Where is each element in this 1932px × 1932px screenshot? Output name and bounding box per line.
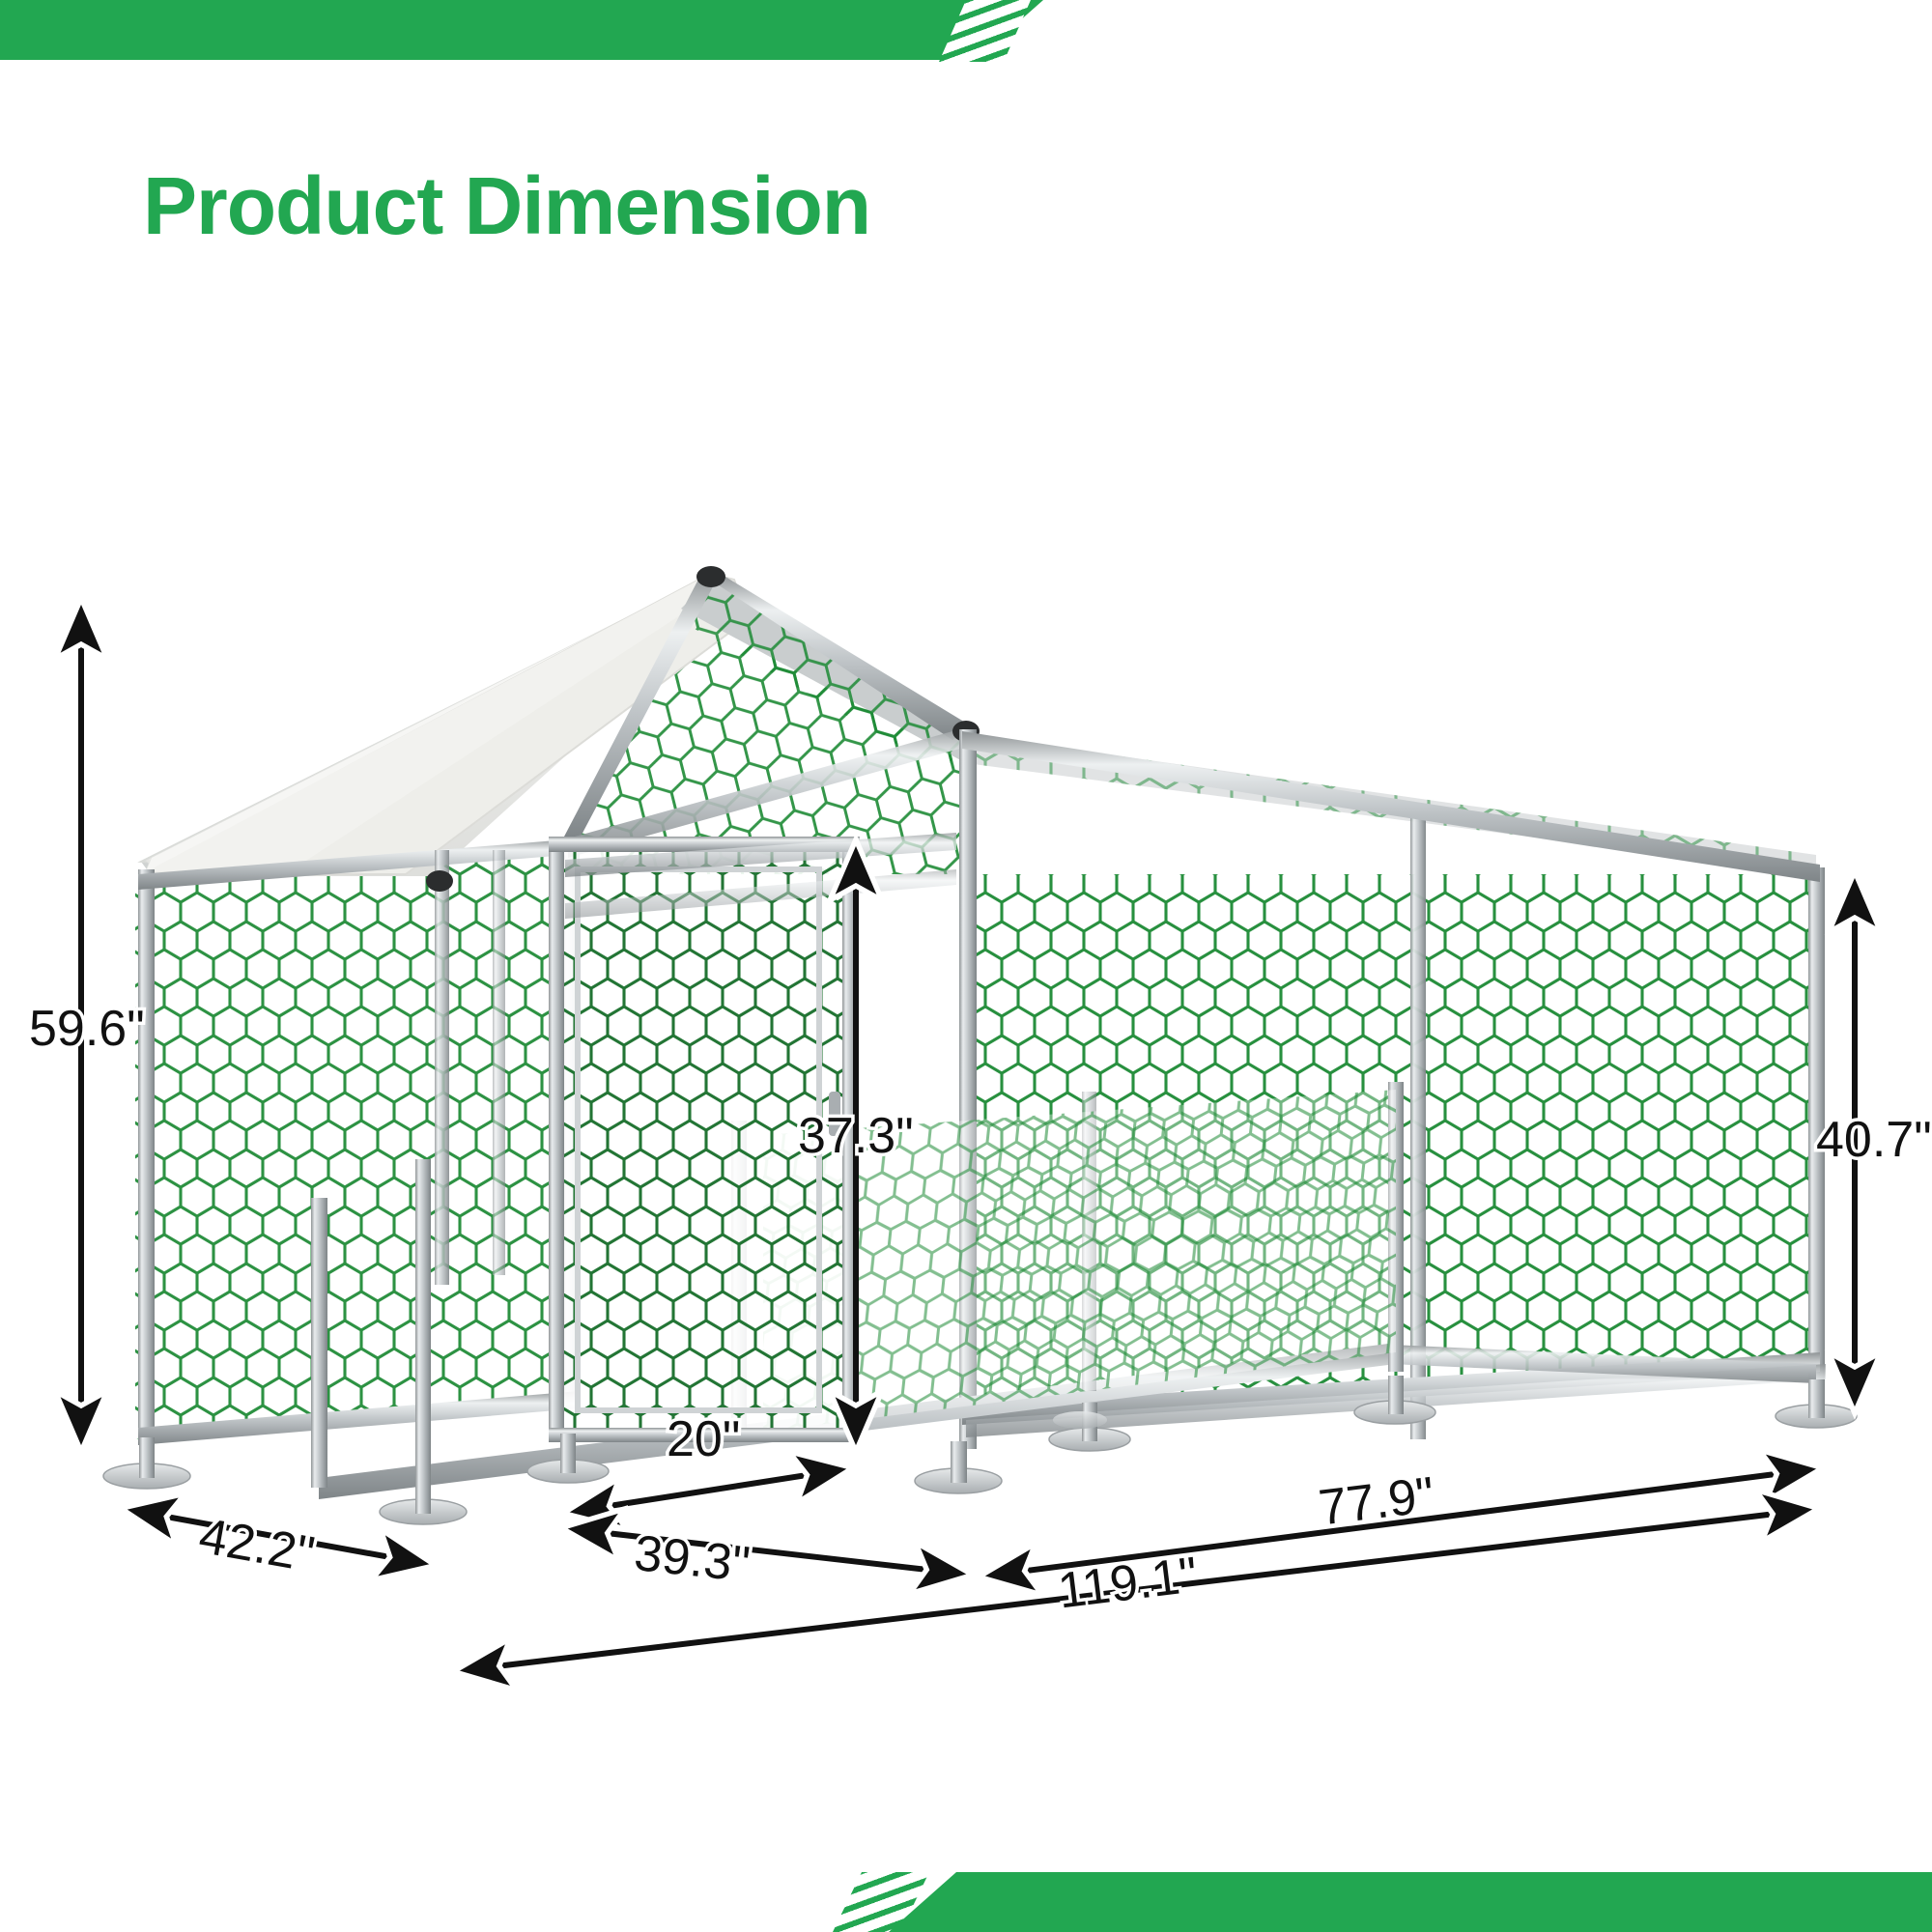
dim-label-coop-length: 39.3" xyxy=(632,1524,753,1594)
dim-label-door-width: 20" xyxy=(667,1410,740,1468)
dim-label-door-height: 37.3" xyxy=(798,1107,914,1165)
product-dimension-page: Product Dimension xyxy=(0,0,1932,1932)
bottom-banner xyxy=(889,1872,1932,1932)
dim-label-overall-height: 59.6" xyxy=(29,1000,145,1058)
product-diagram xyxy=(0,0,1932,1932)
dim-label-run-height: 40.7" xyxy=(1816,1111,1932,1169)
dim-door-width-arrow xyxy=(566,1468,850,1513)
dim-coop-length-arrow xyxy=(564,1528,970,1575)
